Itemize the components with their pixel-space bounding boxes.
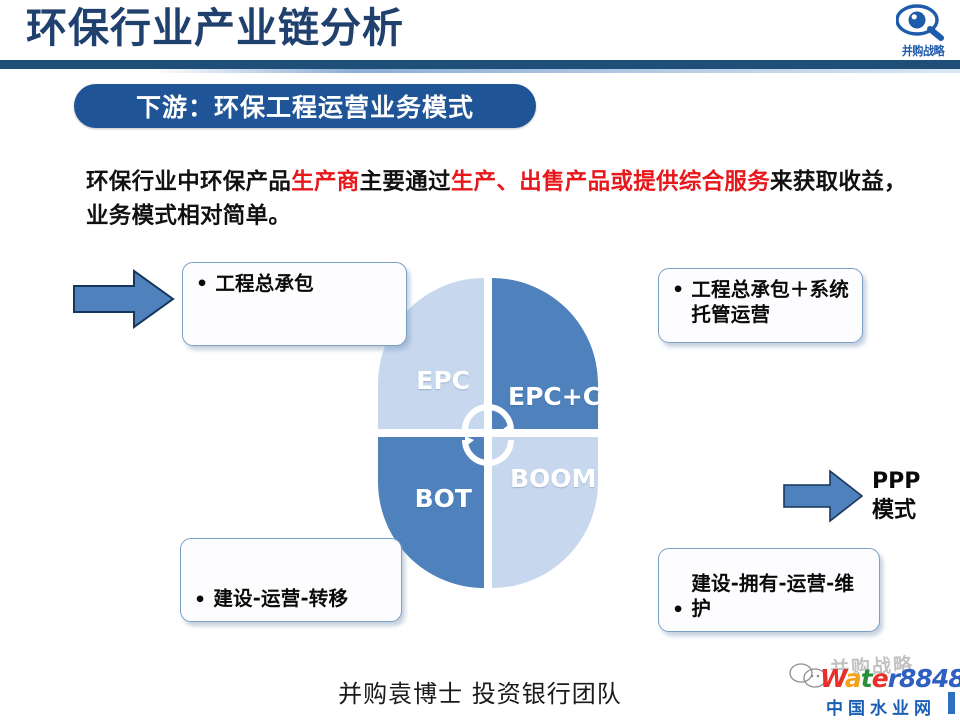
callout-bottom-right-text: 建设-拥有-运营-维护 [691, 572, 866, 622]
arrow-right-icon-left [72, 268, 176, 330]
section-pill-label: 下游：环保工程运营业务模式 [136, 88, 474, 124]
callout-bottom-left[interactable]: • 建设-运营-转移 [180, 538, 402, 622]
body-seg-2: 主要通过 [360, 169, 451, 195]
callout-bottom-left-bullet: • [194, 588, 206, 612]
pie-quadrant-epcc-label: EPC+C [508, 383, 582, 411]
pie-quadrant-epc-label: EPC [416, 367, 470, 395]
watermark: 并购战略 Water8848.com 中国水业网 [788, 652, 960, 718]
ppp-label: PPP 模式 [872, 468, 920, 525]
watermark-brand-number: 8848 [899, 664, 960, 693]
pie-quadrant-bot-label: BOT [415, 485, 472, 513]
business-model-pie: EPC EPC+C BOT BOOM [378, 278, 598, 588]
slide-canvas: 环保行业产业链分析 并购战略 下游：环保工程运营业务模式 环保行业中环保产品生产… [0, 0, 960, 720]
callout-top-right[interactable]: • 工程总承包＋系统托管运营 [658, 268, 863, 343]
pie-quadrant-boom[interactable]: BOOM [492, 437, 598, 588]
ppp-label-line2: 模式 [872, 497, 920, 526]
pie-quadrant-boom-label: BOOM [510, 465, 576, 493]
watermark-brand-e: e [872, 664, 888, 693]
watermark-brand: Water8848.com [820, 666, 960, 691]
watermark-brand-t: t [861, 664, 872, 693]
callout-bottom-left-text: 建设-运营-转移 [213, 587, 348, 612]
body-highlight-2: 生产、出售产品或提供综合服务 [451, 169, 770, 195]
watermark-brand-r: r [888, 664, 899, 693]
body-paragraph: 环保行业中环保产品生产商主要通过生产、出售产品或提供综合服务来获取收益，业务模式… [86, 165, 926, 233]
section-pill: 下游：环保工程运营业务模式 [74, 84, 536, 128]
ppp-label-line1: PPP [872, 468, 920, 497]
callout-top-left-bullet: • [196, 272, 208, 296]
eye-magnifier-icon [896, 2, 946, 44]
watermark-accent-bar [948, 692, 955, 714]
callout-top-right-text: 工程总承包＋系统托管运营 [691, 278, 849, 328]
watermark-site-name: 中国水业网 [826, 694, 936, 719]
header-divider-shadow [150, 69, 960, 73]
logo-label: 并购战略 [894, 42, 951, 59]
pie-quadrant-epcc[interactable]: EPC+C [492, 278, 598, 429]
callout-bottom-right[interactable]: • 建设-拥有-运营-维护 [658, 548, 880, 632]
callout-top-left-text: 工程总承包 [215, 272, 314, 297]
body-highlight-1: 生产商 [291, 169, 359, 195]
body-seg-1: 环保行业中环保产品 [86, 169, 291, 195]
watermark-brand-a: a [845, 664, 861, 693]
callout-bottom-right-bullet: • [672, 598, 684, 622]
page-title: 环保行业产业链分析 [26, 4, 404, 53]
brand-logo: 并购战略 [892, 2, 954, 64]
arrow-right-icon-right [782, 468, 864, 524]
watermark-brand-w: W [820, 664, 845, 693]
header-divider [0, 60, 960, 69]
callout-top-right-bullet: • [672, 278, 684, 302]
callout-top-left[interactable]: • 工程总承包 [182, 262, 407, 346]
